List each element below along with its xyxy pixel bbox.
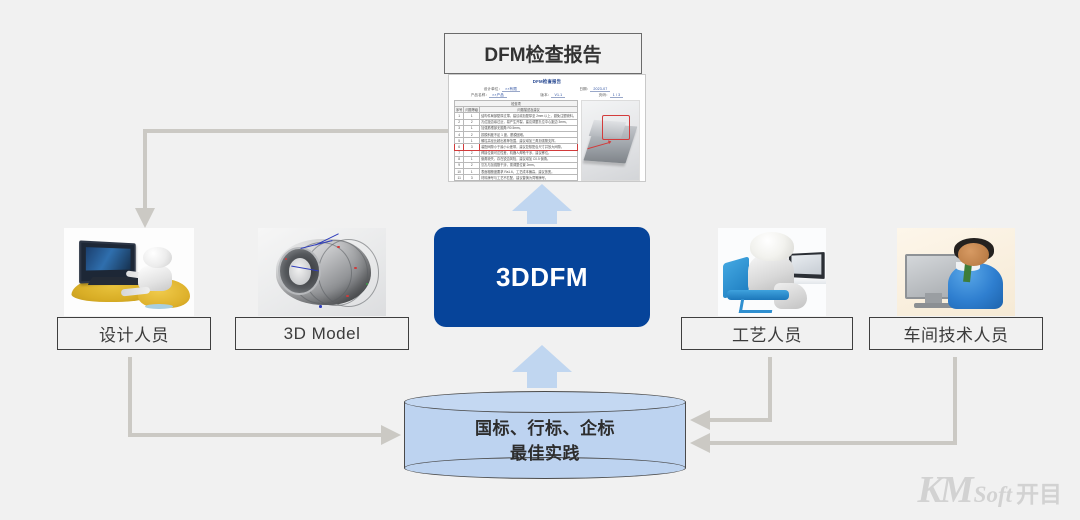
figure-head-icon [143,247,172,268]
table-row: 113材料牌号与工艺不匹配，建议替换为同等牌号。 [455,175,578,181]
diagram-canvas: DFM检查报告 DFM检查报告 设计单位：××有限 日期：2023-07 产品名… [0,0,1080,520]
doc-meta-item: 产品名称：××产品 [471,93,507,98]
report-document-thumbnail[interactable]: DFM检查报告 设计单位：××有限 日期：2023-07 产品名称：××产品 版… [448,74,646,182]
report-title-box: DFM检查报告 [444,33,642,74]
model-point-icon [337,246,340,249]
cylinder-top-ellipse [404,391,686,413]
chair-leg-icon [738,299,774,313]
node-label-process-engineer[interactable]: 工艺人员 [681,317,853,350]
3d-cad-model-icon [258,228,386,316]
model-point-icon [354,267,357,270]
workshop-technician-icon [897,228,1015,316]
watermark-cn: 开目 [1016,475,1062,509]
model-point-icon [319,305,322,308]
process-engineer-icon [718,228,826,316]
node-label-text: 3D Model [284,324,361,344]
watermark-mark: KM [918,468,971,512]
node-label-workshop-technician[interactable]: 车间技术人员 [869,317,1043,350]
model-point-icon [366,283,369,286]
keyboard-icon [88,277,145,285]
doc-table-head: 检查项 序号 问题等级 问题描述及建议 [455,101,578,113]
doc-body: 检查项 序号 问题等级 问题描述及建议 11结构件局部壁厚过薄，建议增加壁厚至 … [454,100,640,181]
model-opening-icon [278,247,320,295]
doc-table: 检查项 序号 问题等级 问题描述及建议 11结构件局部壁厚过薄，建议增加壁厚至 … [454,100,578,181]
figure-head-icon [958,243,989,266]
doc-heading: DFM检查报告 [454,79,640,85]
doc-annotation-box [602,115,630,139]
doc-meta-item: 日期：2023-07 [579,87,610,92]
cylinder-label-line-2: 最佳实践 [404,442,686,467]
node-label-designer[interactable]: 设计人员 [57,317,211,350]
doc-meta-item: 页码：1 / 3 [599,93,624,98]
figure-head-icon [750,232,793,260]
laptop-icon [789,252,824,279]
arrow-database-to-core [512,345,572,388]
cylinder-label: 国标、行标、企标 最佳实践 [404,417,686,466]
arrow-core-to-report [512,184,572,224]
watermark-soft: Soft [974,482,1012,508]
core-3ddfm-box[interactable]: 3DDFM [434,227,650,327]
node-label-3d-model[interactable]: 3D Model [235,317,409,350]
node-label-text: 车间技术人员 [904,321,1009,346]
doc-meta-item: 版本：V1.1 [540,93,565,98]
node-label-text: 工艺人员 [732,321,802,346]
kmsoft-watermark-logo: KM Soft 开目 [918,468,1062,512]
designer-at-computer-icon [64,228,194,316]
standards-database-cylinder[interactable]: 国标、行标、企标 最佳实践 [404,391,686,479]
cylinder-label-line-1: 国标、行标、企标 [404,417,686,442]
doc-meta-row-2: 产品名称：××产品 版本：V1.1 页码：1 / 3 [454,93,640,98]
doc-meta-row-1: 设计单位：××有限 日期：2023-07 [454,87,640,92]
arrow-designer-to-database [130,357,401,445]
chair-base-icon [145,304,174,309]
core-label: 3DDFM [496,262,588,293]
arrow-report-to-designer [135,131,452,228]
node-label-text: 设计人员 [99,321,169,346]
arrow-tech-to-database [690,357,955,453]
doc-meta-item: 设计单位：××有限 [484,87,520,92]
arrow-process-to-database [690,357,770,430]
doc-model-preview [581,100,640,181]
doc-table-body: 11结构件局部壁厚过薄，建议增加壁厚至 2mm 以上，避免注塑缺料。 22孔位距… [455,113,578,181]
report-title-text: DFM检查报告 [484,40,601,67]
